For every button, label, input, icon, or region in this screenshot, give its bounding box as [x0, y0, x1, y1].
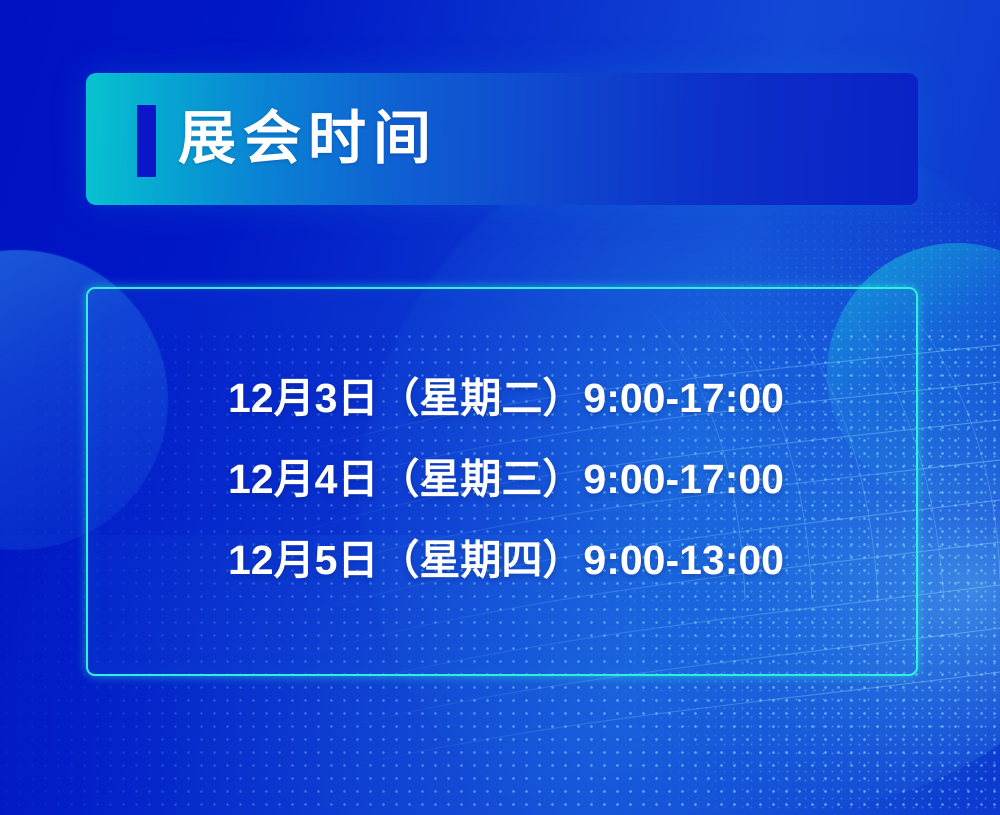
schedule-row: 12月4日（星期三）9:00-17:00	[228, 459, 828, 500]
schedule-row: 12月3日（星期二）9:00-17:00	[228, 378, 828, 419]
section-title-banner: 展会时间	[86, 73, 918, 205]
title-accent-bar	[137, 105, 156, 177]
schedule-row: 12月5日（星期四）9:00-13:00	[228, 540, 828, 581]
poster-canvas: 展会时间 12月3日（星期二）9:00-17:00 12月4日（星期三）9:00…	[0, 0, 1000, 815]
page-title: 展会时间	[178, 73, 438, 205]
schedule-list: 12月3日（星期二）9:00-17:00 12月4日（星期三）9:00-17:0…	[228, 287, 828, 672]
